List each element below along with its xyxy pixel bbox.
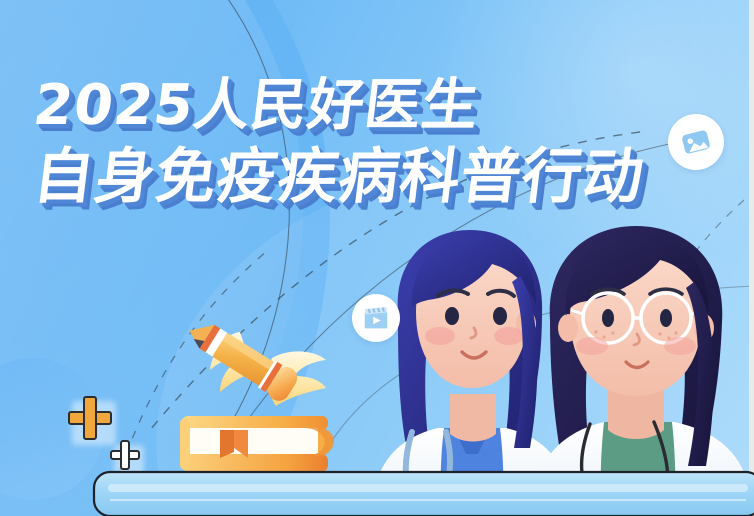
- title-line-2: 自身免疫疾病科普行动: [30, 147, 647, 207]
- video-icon: [352, 294, 400, 342]
- page-title: 2025人民好医生 自身免疫疾病科普行动: [34, 78, 644, 207]
- plus-white-icon: [110, 440, 140, 470]
- poster-banner: 2025人民好医生 自身免疫疾病科普行动: [0, 0, 754, 516]
- photo-icon: [662, 108, 730, 176]
- desk-bar: [92, 470, 754, 516]
- plus-orange-icon: [68, 396, 112, 440]
- title-line-1: 2025人民好医生: [31, 78, 648, 134]
